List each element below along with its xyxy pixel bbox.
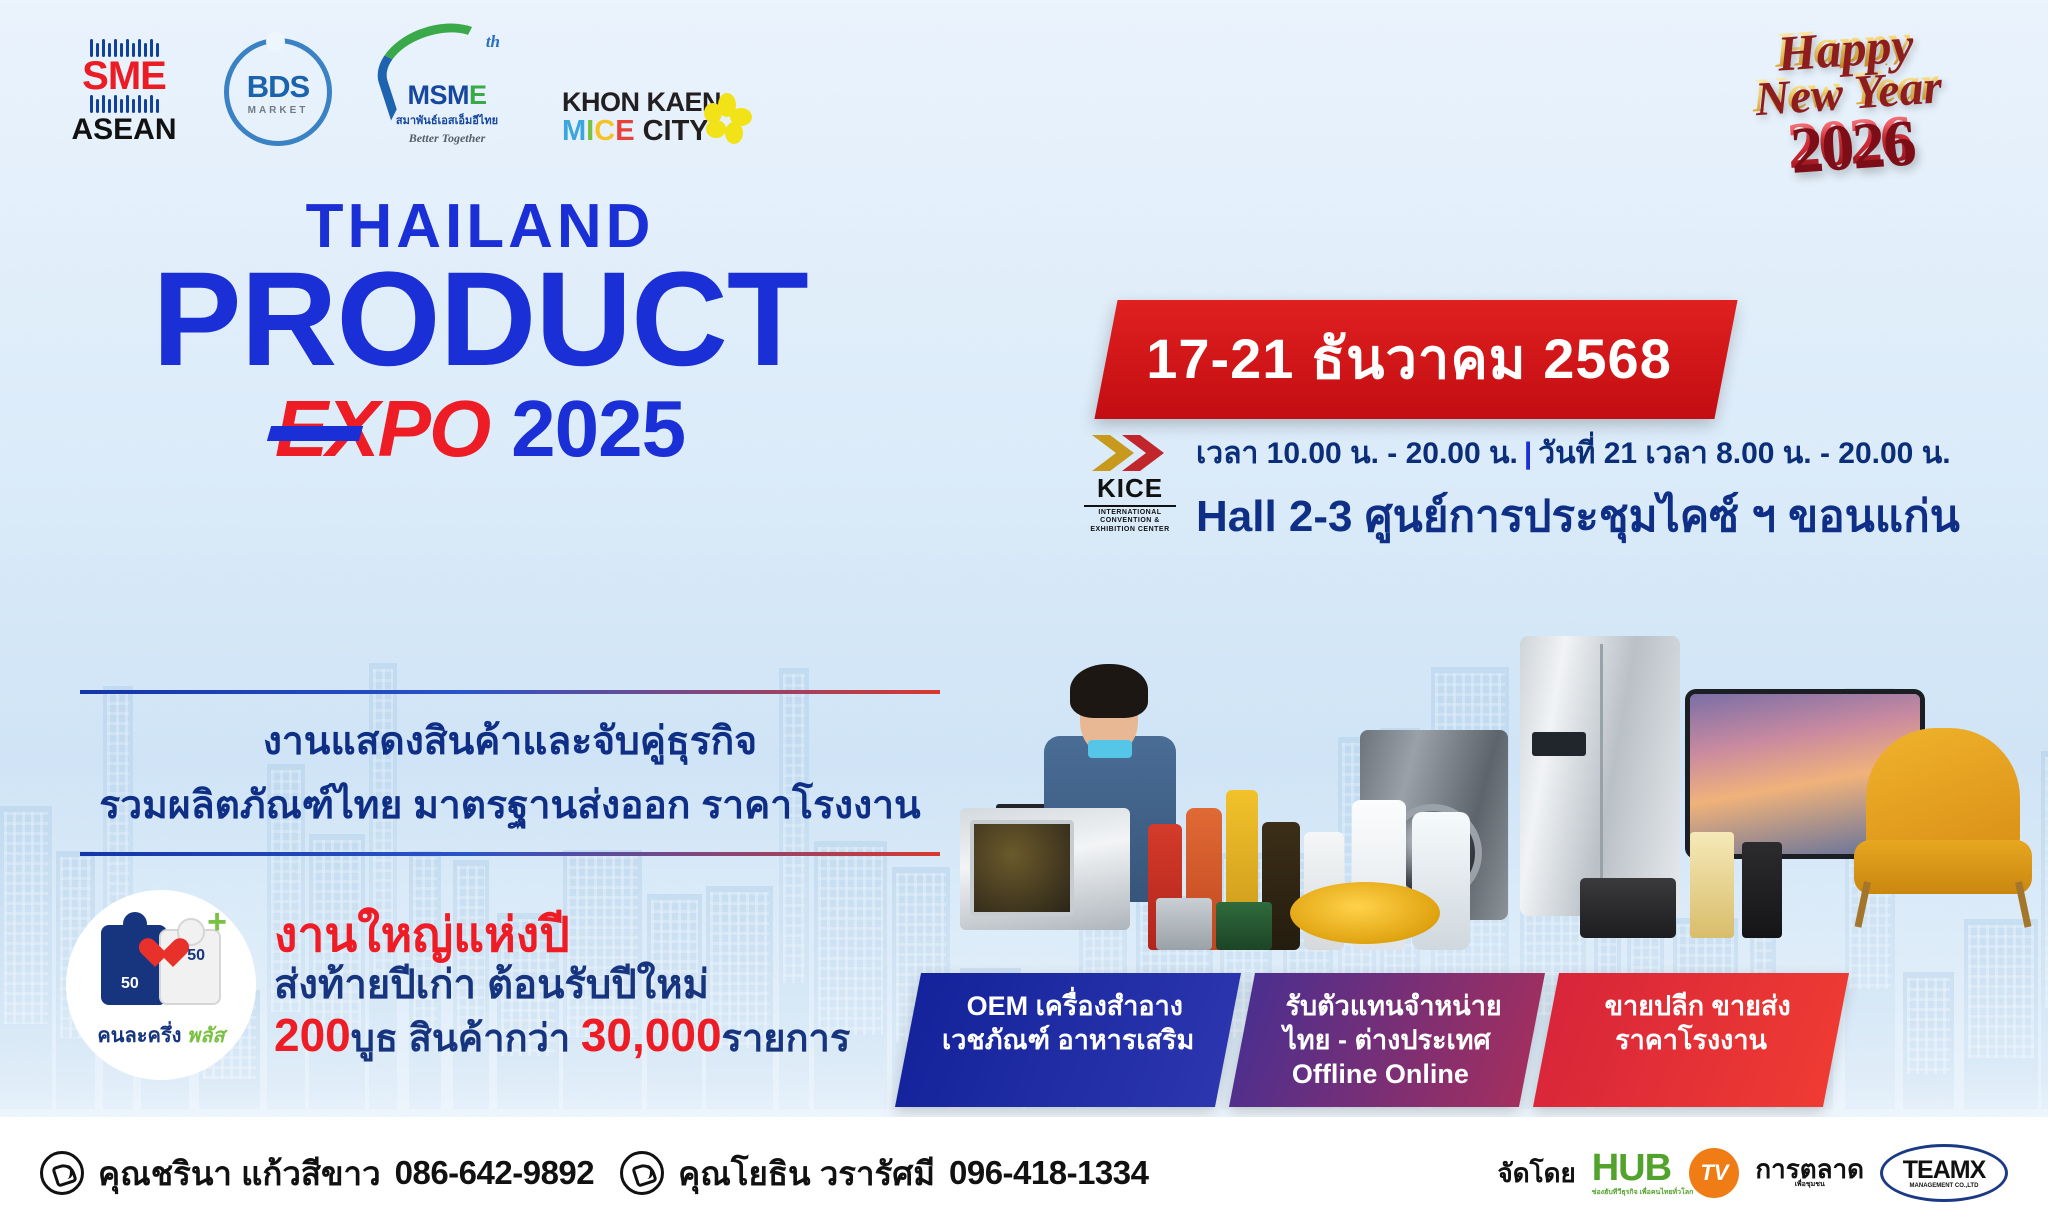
hub-wordmark: HUB	[1592, 1149, 1694, 1187]
msme-tagline: Better Together	[372, 131, 522, 146]
perfume-bottle-image	[1690, 832, 1734, 938]
teamx-wordmark: TEAMX	[1903, 1158, 1986, 1183]
contact-name-1: คุณชรินา แก้วสีขาว	[98, 1147, 381, 1200]
canned-food-image	[1156, 898, 1212, 950]
tagline-rule-top	[80, 690, 940, 694]
date-text: 17-21 ธันวาคม 2568	[1146, 314, 1672, 403]
armchair-back	[1866, 728, 2020, 856]
mice-letter-m: M	[562, 115, 586, 147]
category-banner-oem-line2: เวชภัณฑ์ อาหารเสริม	[942, 1023, 1194, 1057]
promo-booth-unit: บูธ	[351, 1018, 398, 1060]
contact-item-1: คุณชรินา แก้วสีขาว 086-642-9892	[40, 1147, 594, 1200]
mice-letter-e: E	[615, 115, 634, 147]
fish-oil-capsules-image	[1290, 882, 1440, 944]
fridge-control-panel	[1532, 732, 1586, 756]
tv-circle-icon: TV	[1689, 1148, 1739, 1198]
phone-icon-2	[620, 1151, 664, 1195]
sme-asean-label: ASEAN	[64, 113, 184, 146]
tagline-line2: รวมผลิตภัณฑ์ไทย มาตรฐานส่งออก ราคาโรงงาน	[80, 774, 940, 836]
category-banner-oem[interactable]: OEM เครื่องสำอาง เวชภัณฑ์ อาหารเสริม	[895, 973, 1241, 1107]
promo-block: 50 50 + คนละครึ่ง พลัส งานใหญ่แห่งปี ส่ง…	[66, 890, 850, 1080]
logo-karn-talad: การตลาด เพื่อชุมชน	[1755, 1158, 1864, 1188]
perfume-box-image	[1742, 842, 1782, 938]
promo-subline: ส่งท้ายปีเก่า ต้อนรับปีใหม่	[274, 962, 850, 1008]
contact-name-2: คุณโยธิน วรารัศมี	[678, 1147, 935, 1200]
venue-time-row: เวลา 10.00 น. - 20.00 น.|วันที่ 21 เวลา …	[1196, 430, 1960, 477]
puzzle-value-right: 50	[187, 947, 205, 965]
category-banner-distributor-line3: Offline Online	[1270, 1057, 1492, 1091]
category-banner-retail-line1: ขายปลีก ขายส่ง	[1587, 989, 1809, 1023]
puzzle-value-left: 50	[121, 975, 139, 993]
venue-time-part2: วันที่ 21 เวลา 8.00 น. - 20.00 น.	[1538, 437, 1950, 470]
category-banner-retail-line2: ราคาโรงงาน	[1580, 1023, 1802, 1057]
msme-anniversary-superscript: th	[486, 32, 500, 52]
venue-info-block: KICE INTERNATIONAL CONVENTION & EXHIBITI…	[1084, 428, 1960, 551]
khon-badge-thai: คนละครึ่ง	[97, 1025, 181, 1047]
promo-items-prefix: สินค้ากว่า	[409, 1018, 571, 1060]
logo-sme-asean: SME ASEAN	[64, 39, 184, 146]
armchair-leg	[2015, 881, 2031, 927]
model-hair-image	[1070, 664, 1148, 718]
category-banner-distributor-line1: รับตัวแทนจำหน่าย	[1283, 989, 1505, 1023]
kice-wordmark: KICE	[1084, 474, 1176, 503]
partner-logo-strip: SME ASEAN BDS MARKET th MSME สมาพันธ์เอส…	[64, 26, 737, 146]
organized-by-label: จัดโดย	[1497, 1153, 1575, 1194]
mice-letter-c: C	[594, 115, 615, 147]
heart-icon	[147, 939, 181, 971]
flower-icon	[701, 93, 753, 145]
promo-items-unit: รายการ	[722, 1018, 851, 1060]
title-expo: EXPO	[275, 383, 489, 475]
canned-food-image-2	[1216, 902, 1272, 950]
happy-new-year-badge: Happy New Year 2026	[1681, 11, 2011, 186]
kice-sub1: INTERNATIONAL	[1084, 509, 1176, 518]
sponsor-logo-group: จัดโดย HUB ช่องฮับทีวีธุรกิจ เพื่อคนไทยท…	[1497, 1144, 2008, 1202]
promo-item-count: 30,000	[581, 1009, 722, 1061]
logo-hub-tv: HUB ช่องฮับทีวีธุรกิจ เพื่อคนไทยทั่วโลก …	[1592, 1148, 1740, 1198]
date-banner: 17-21 ธันวาคม 2568	[1094, 300, 1737, 419]
microwave-window	[970, 820, 1074, 916]
contact-phone-1[interactable]: 086-642-9892	[395, 1154, 595, 1192]
khon-badge-plus-word: พลัส	[187, 1025, 225, 1047]
venue-time-part1: เวลา 10.00 น. - 20.00 น.	[1196, 437, 1518, 470]
promo-stats: 200บูธ สินค้ากว่า 30,000รายการ	[274, 1008, 850, 1063]
category-banner-group: OEM เครื่องสำอาง เวชภัณฑ์ อาหารเสริม รับ…	[908, 973, 1836, 1107]
title-product: PRODUCT	[70, 258, 890, 381]
tagline-line1: งานแสดงสินค้าและจับคู่ธุรกิจ	[80, 710, 940, 772]
promo-headline: งานใหญ่แห่งปี	[274, 910, 850, 962]
contact-item-2: คุณโยธิน วรารัศมี 096-418-1334	[620, 1147, 1148, 1200]
skyline-building	[1903, 972, 1954, 1109]
contact-footer: คุณชรินา แก้วสีขาว 086-642-9892 คุณโยธิน…	[0, 1117, 2048, 1229]
tagline-block: งานแสดงสินค้าและจับคู่ธุรกิจ รวมผลิตภัณฑ…	[80, 690, 940, 856]
hub-sublabel: ช่องฮับทีวีธุรกิจ เพื่อคนไทยทั่วโลก	[1592, 1187, 1694, 1198]
logo-teamx: TEAMX MANAGEMENT CO.,LTD	[1880, 1144, 2008, 1202]
karn-wordmark: การตลาด	[1755, 1154, 1864, 1184]
cosmetics-palette-image	[1580, 878, 1676, 938]
microwave-image	[960, 808, 1130, 930]
sme-wordmark: SME	[64, 57, 184, 95]
phone-icon	[40, 1151, 84, 1195]
tagline-rule-bottom	[80, 852, 940, 856]
teamx-sublabel: MANAGEMENT CO.,LTD	[1910, 1183, 1979, 1189]
kice-divider	[1084, 505, 1176, 507]
title-year: 2025	[511, 383, 685, 475]
skyline-building	[0, 806, 52, 1109]
venue-time-divider: |	[1518, 437, 1538, 470]
puzzle-icon: 50 50 +	[101, 919, 221, 1011]
logo-bds-market: BDS MARKET	[224, 38, 332, 146]
model-scarf-image	[1088, 740, 1132, 758]
plus-sign-icon: +	[207, 905, 227, 939]
armchair-image	[1848, 728, 2038, 928]
category-banner-distributor[interactable]: รับตัวแทนจำหน่าย ไทย - ต่างประเทศ Offlin…	[1229, 973, 1545, 1107]
venue-hall-text: Hall 2-3 ศูนย์การประชุมไคซ์ ฯ ขอนแก่น	[1196, 481, 1960, 551]
mice-city-word: CITY	[643, 115, 709, 147]
category-banner-distributor-line2: ไทย - ต่างประเทศ	[1276, 1023, 1498, 1057]
refrigerator-image	[1520, 636, 1680, 916]
bds-sublabel: MARKET	[248, 105, 309, 116]
category-banner-oem-line1: OEM เครื่องสำอาง	[949, 989, 1201, 1023]
logo-kice: KICE INTERNATIONAL CONVENTION & EXHIBITI…	[1084, 428, 1176, 535]
kice-chevron-icon	[1084, 432, 1176, 474]
logo-khon-kaen-mice-city: KHON KAEN MICE CITY	[562, 89, 737, 146]
logo-msme: th MSME สมาพันธ์เอสเอ็มอีไทย Better Toge…	[372, 26, 522, 146]
khon-badge-label: คนละครึ่ง พลัส	[97, 1019, 224, 1051]
category-banner-retail[interactable]: ขายปลีก ขายส่ง ราคาโรงงาน	[1533, 973, 1849, 1107]
event-title-block: THAILAND PRODUCT EXPO 2025	[70, 196, 890, 475]
khon-la-khrueng-badge: 50 50 + คนละครึ่ง พลัส	[66, 890, 256, 1080]
bds-wordmark: BDS	[247, 69, 309, 105]
contact-phone-2[interactable]: 096-418-1334	[949, 1154, 1149, 1192]
armchair-seat	[1854, 840, 2032, 894]
product-montage-image	[960, 520, 2048, 950]
promo-booth-count: 200	[274, 1009, 351, 1061]
kice-sub2: CONVENTION & EXHIBITION CENTER	[1084, 517, 1176, 535]
